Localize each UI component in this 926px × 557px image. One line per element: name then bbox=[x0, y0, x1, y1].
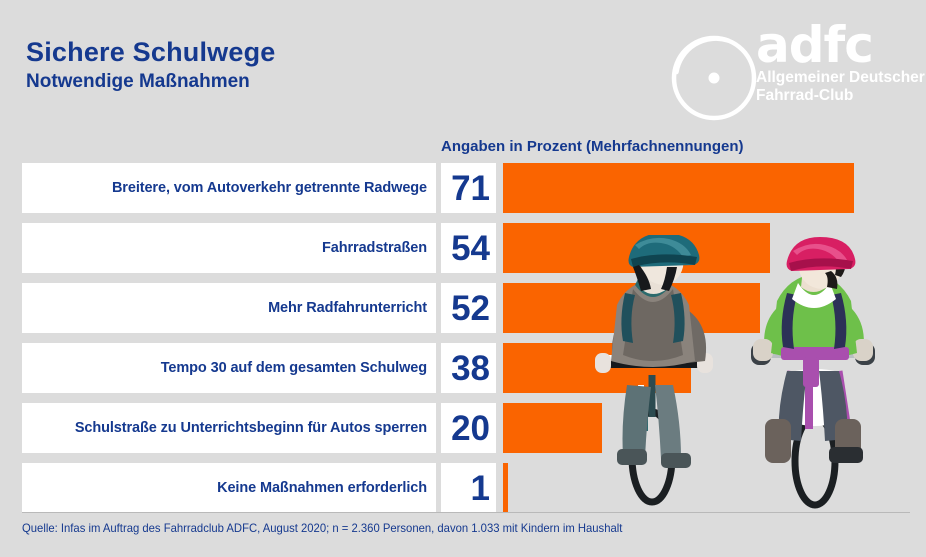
bar bbox=[503, 283, 760, 333]
bicycle-wheel-icon bbox=[668, 32, 760, 124]
bar-row-value: 1 bbox=[471, 471, 490, 506]
bar-row-label: Mehr Radfahrunterricht bbox=[268, 300, 427, 316]
bar-row: Fahrradstraßen54 bbox=[22, 223, 910, 273]
bar-row-label: Tempo 30 auf dem gesamten Schulweg bbox=[161, 360, 427, 376]
source-note: Quelle: Infas im Auftrag des Fahrradclub… bbox=[22, 521, 622, 535]
title-main: Sichere Schulwege bbox=[26, 38, 276, 66]
bar-row-label-box: Breitere, vom Autoverkehr getrennte Radw… bbox=[22, 163, 436, 213]
infographic-canvas: Sichere Schulwege Notwendige Maßnahmen a… bbox=[0, 0, 926, 557]
bar-row-value: 52 bbox=[451, 291, 490, 326]
bar bbox=[503, 223, 770, 273]
adfc-tagline-line2: Fahrrad-Club bbox=[756, 87, 916, 104]
bar-row-value: 54 bbox=[451, 231, 490, 266]
bar-row-value-box: 54 bbox=[441, 223, 496, 273]
bar-row-label-box: Keine Maßnahmen erforderlich bbox=[22, 463, 436, 513]
bar-row-label: Keine Maßnahmen erforderlich bbox=[217, 480, 427, 496]
bar-row-label: Breitere, vom Autoverkehr getrennte Radw… bbox=[112, 180, 427, 196]
bar-row-value-box: 52 bbox=[441, 283, 496, 333]
adfc-wordmark: adfc bbox=[756, 22, 916, 68]
bar-row: Tempo 30 auf dem gesamten Schulweg38 bbox=[22, 343, 910, 393]
bar-row-value-box: 1 bbox=[441, 463, 496, 513]
bar-row-value: 71 bbox=[451, 171, 490, 206]
bar-row-label-box: Fahrradstraßen bbox=[22, 223, 436, 273]
bar bbox=[503, 463, 508, 513]
bar-chart: Breitere, vom Autoverkehr getrennte Radw… bbox=[0, 163, 926, 510]
bar-row-value-box: 20 bbox=[441, 403, 496, 453]
adfc-logo: adfc Allgemeiner Deutscher Fahrrad-Club bbox=[668, 26, 914, 126]
bar-row: Schulstraße zu Unterrichtsbeginn für Aut… bbox=[22, 403, 910, 453]
bar-row: Keine Maßnahmen erforderlich1 bbox=[22, 463, 910, 513]
bar-row-value: 20 bbox=[451, 411, 490, 446]
chart-unit-note: Angaben in Prozent (Mehrfachnennungen) bbox=[441, 138, 744, 155]
bar-row-value-box: 38 bbox=[441, 343, 496, 393]
adfc-tagline-line1: Allgemeiner Deutscher bbox=[756, 69, 916, 86]
bar-row-value-box: 71 bbox=[441, 163, 496, 213]
bar-row: Breitere, vom Autoverkehr getrennte Radw… bbox=[22, 163, 910, 213]
bar-row-label-box: Schulstraße zu Unterrichtsbeginn für Aut… bbox=[22, 403, 436, 453]
bar-row-label-box: Tempo 30 auf dem gesamten Schulweg bbox=[22, 343, 436, 393]
bar-row-label: Fahrradstraßen bbox=[322, 240, 427, 256]
bar bbox=[503, 343, 691, 393]
bar bbox=[503, 163, 854, 213]
bar-row-label: Schulstraße zu Unterrichtsbeginn für Aut… bbox=[75, 420, 427, 436]
footer-divider bbox=[22, 512, 910, 513]
bar-row-value: 38 bbox=[451, 351, 490, 386]
title-subtitle: Notwendige Maßnahmen bbox=[26, 71, 276, 93]
bar bbox=[503, 403, 602, 453]
adfc-logo-text: adfc Allgemeiner Deutscher Fahrrad-Club bbox=[756, 22, 916, 105]
bar-row-label-box: Mehr Radfahrunterricht bbox=[22, 283, 436, 333]
bar-row: Mehr Radfahrunterricht52 bbox=[22, 283, 910, 333]
page-title: Sichere Schulwege Notwendige Maßnahmen bbox=[26, 38, 276, 93]
